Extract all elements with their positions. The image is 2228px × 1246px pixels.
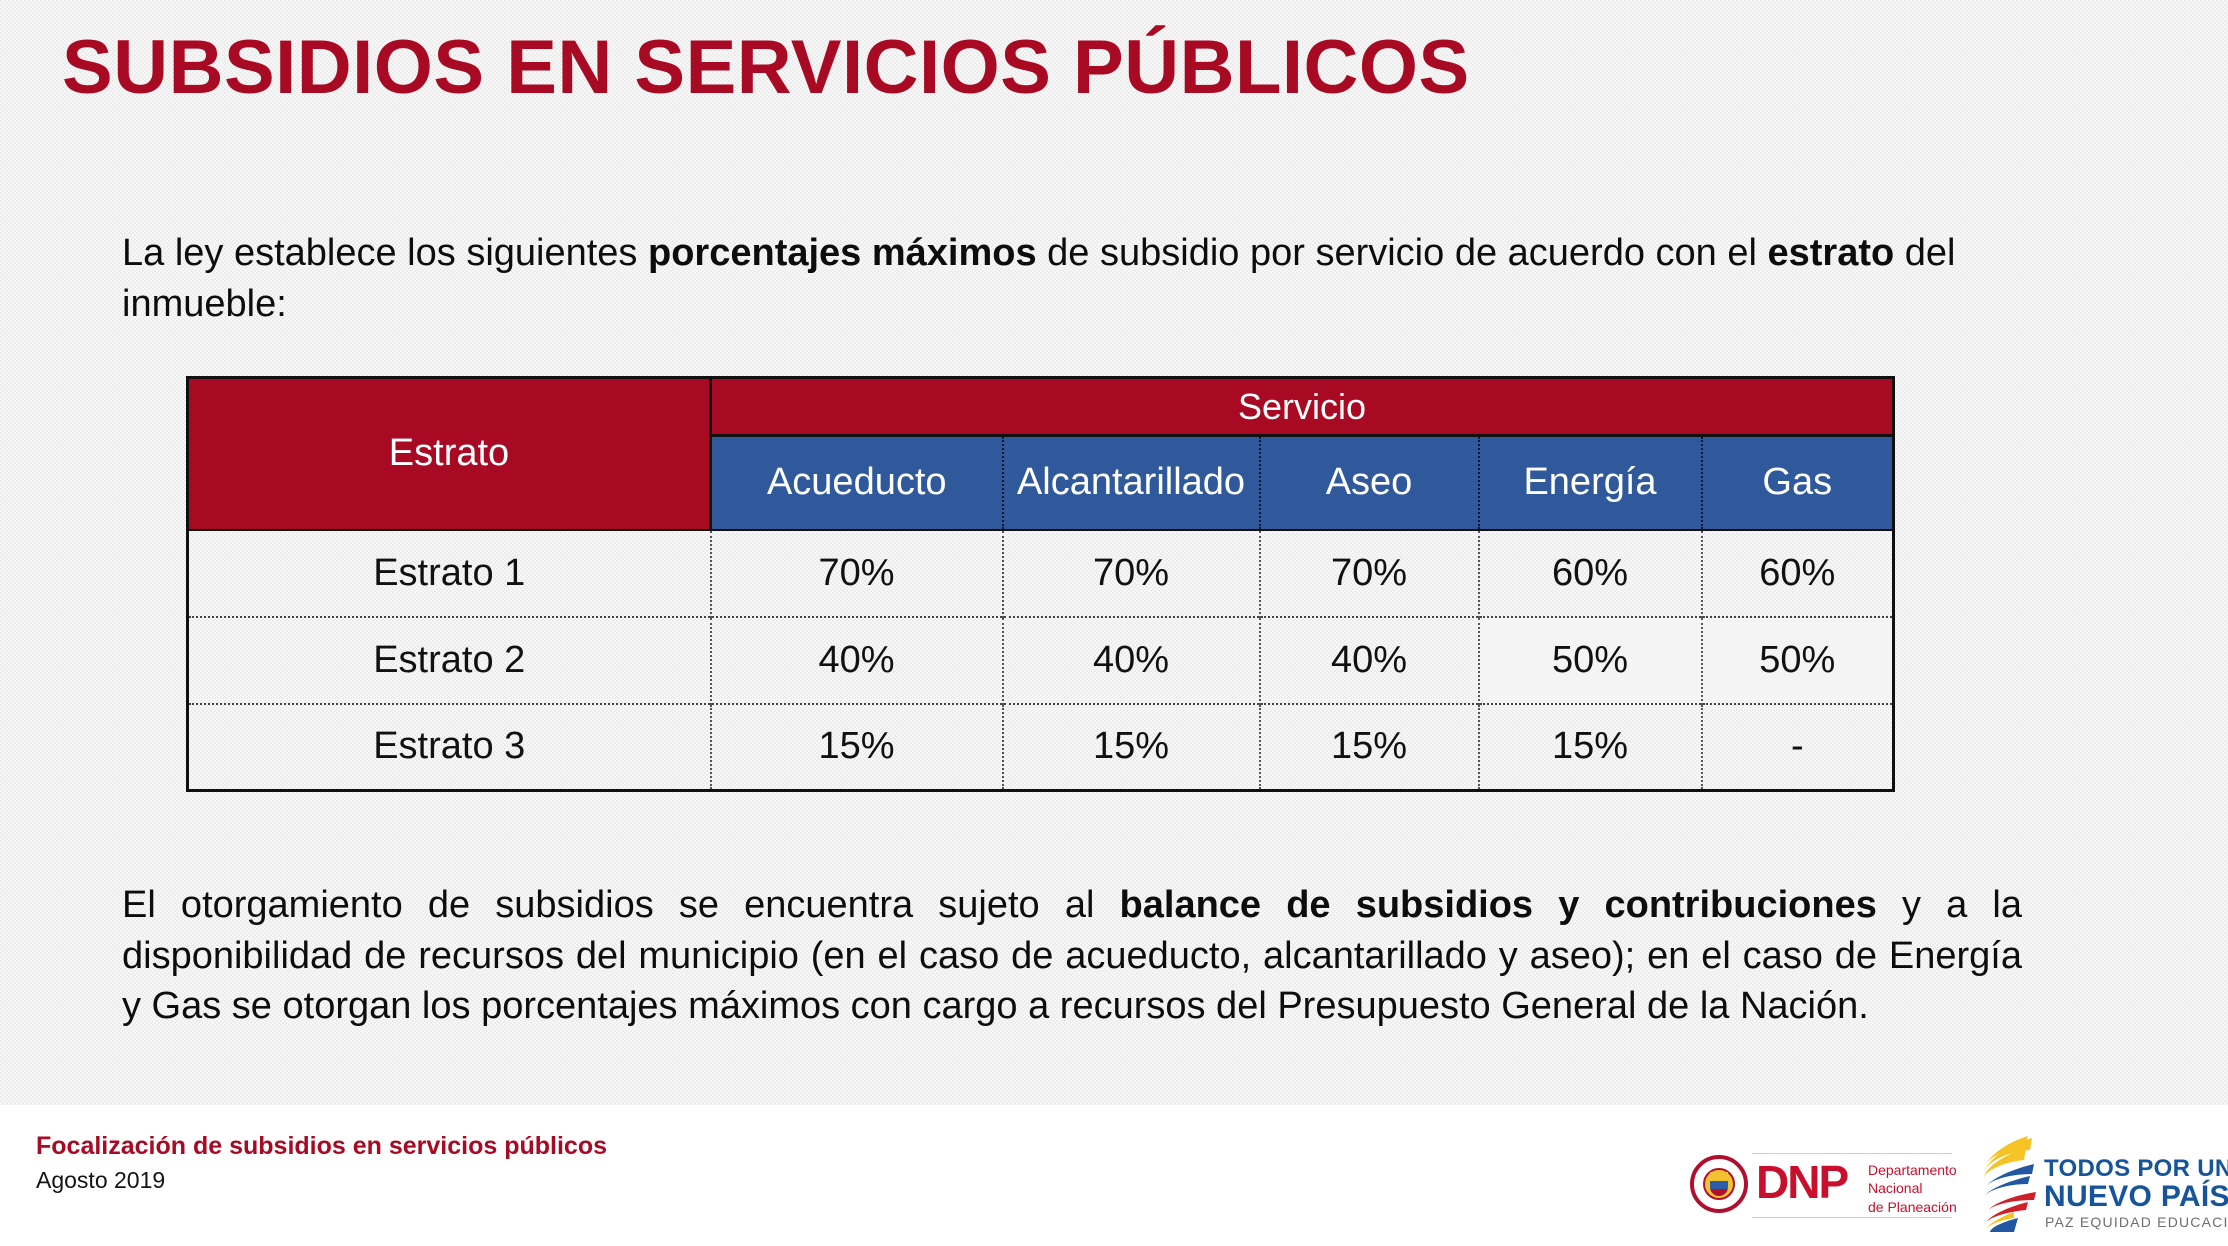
intro-paragraph: La ley establece los siguientes porcenta… [122, 228, 2082, 329]
cell-estrato3-energia: 15% [1479, 704, 1702, 791]
colombia-flag-swoosh-icon [1984, 1134, 2042, 1232]
nuevo-pais-tagline: PAZ EQUIDAD EDUCACIÓN [2045, 1214, 2228, 1230]
footer-title: Focalización de subsidios en servicios p… [36, 1132, 607, 1161]
cell-estrato1-acueducto: 70% [711, 530, 1003, 617]
table-header-acueducto: Acueducto [711, 436, 1003, 530]
cell-estrato3-acueducto: 15% [711, 704, 1003, 791]
dnp-rule-bottom [1752, 1217, 1952, 1218]
closing-text-part1: El otorgamiento de subsidios se encuentr… [122, 884, 1120, 926]
slide: SUBSIDIOS EN SERVICIOS PÚBLICOS La ley e… [0, 0, 2228, 1246]
cell-estrato2-aseo: 40% [1260, 617, 1479, 704]
dnp-wordmark: Departamento Nacional de Planeación [1868, 1161, 1957, 1216]
dnp-rule-top [1752, 1153, 1952, 1154]
dnp-acronym: DNP [1756, 1159, 1847, 1205]
table-row: Estrato 2 40% 40% 40% 50% 50% [188, 617, 1894, 704]
table-header-energia: Energía [1479, 436, 1702, 530]
nuevo-pais-line2: NUEVO PAÍS [2044, 1180, 2228, 1214]
dnp-word-line3: de Planeación [1868, 1198, 1957, 1216]
dnp-logo: DNP Departamento Nacional de Planeación [1690, 1143, 1955, 1225]
cell-estrato3-gas: - [1702, 704, 1894, 791]
table-row: Estrato 3 15% 15% 15% 15% - [188, 704, 1894, 791]
cell-estrato2-alcantarillado: 40% [1003, 617, 1260, 704]
row-label-estrato-3: Estrato 3 [188, 704, 711, 791]
table-header-servicio: Servicio [711, 378, 1894, 436]
cell-estrato1-aseo: 70% [1260, 530, 1479, 617]
cell-estrato3-alcantarillado: 15% [1003, 704, 1260, 791]
intro-text-part2: de subsidio por servicio de acuerdo con … [1037, 232, 1768, 274]
closing-paragraph: El otorgamiento de subsidios se encuentr… [122, 880, 2022, 1032]
cell-estrato2-acueducto: 40% [711, 617, 1003, 704]
cell-estrato3-aseo: 15% [1260, 704, 1479, 791]
intro-text-part1: La ley establece los siguientes [122, 232, 648, 274]
dnp-word-line1: Departamento [1868, 1161, 1957, 1179]
row-label-estrato-2: Estrato 2 [188, 617, 711, 704]
dnp-word-line2: Nacional [1868, 1179, 1957, 1197]
table-header-aseo: Aseo [1260, 436, 1479, 530]
table-header-estrato: Estrato [188, 378, 711, 530]
page-title: SUBSIDIOS EN SERVICIOS PÚBLICOS [62, 26, 1470, 110]
table-header-gas: Gas [1702, 436, 1894, 530]
cell-estrato1-alcantarillado: 70% [1003, 530, 1260, 617]
table-header-alcantarillado: Alcantarillado [1003, 436, 1260, 530]
subsidy-percentages-table: Estrato Servicio Acueducto Alcantarillad… [186, 376, 1895, 792]
closing-bold-balance: balance de subsidios y contribuciones [1120, 884, 1877, 926]
nuevo-pais-line1: TODOS POR UN [2044, 1155, 2228, 1183]
row-label-estrato-1: Estrato 1 [188, 530, 711, 617]
intro-bold-porcentajes-maximos: porcentajes máximos [648, 232, 1037, 274]
colombia-coat-of-arms-icon [1690, 1155, 1748, 1213]
intro-bold-estrato: estrato [1767, 232, 1894, 274]
table-header-row-group: Estrato Servicio [188, 378, 1894, 436]
footer-date: Agosto 2019 [36, 1167, 165, 1194]
nuevo-pais-logo: TODOS POR UN NUEVO PAÍS PAZ EQUIDAD EDUC… [1984, 1132, 2222, 1236]
cell-estrato1-gas: 60% [1702, 530, 1894, 617]
seal-shield-icon [1710, 1172, 1728, 1196]
cell-estrato2-gas: 50% [1702, 617, 1894, 704]
cell-estrato2-energia: 50% [1479, 617, 1702, 704]
cell-estrato1-energia: 60% [1479, 530, 1702, 617]
table-row: Estrato 1 70% 70% 70% 60% 60% [188, 530, 1894, 617]
